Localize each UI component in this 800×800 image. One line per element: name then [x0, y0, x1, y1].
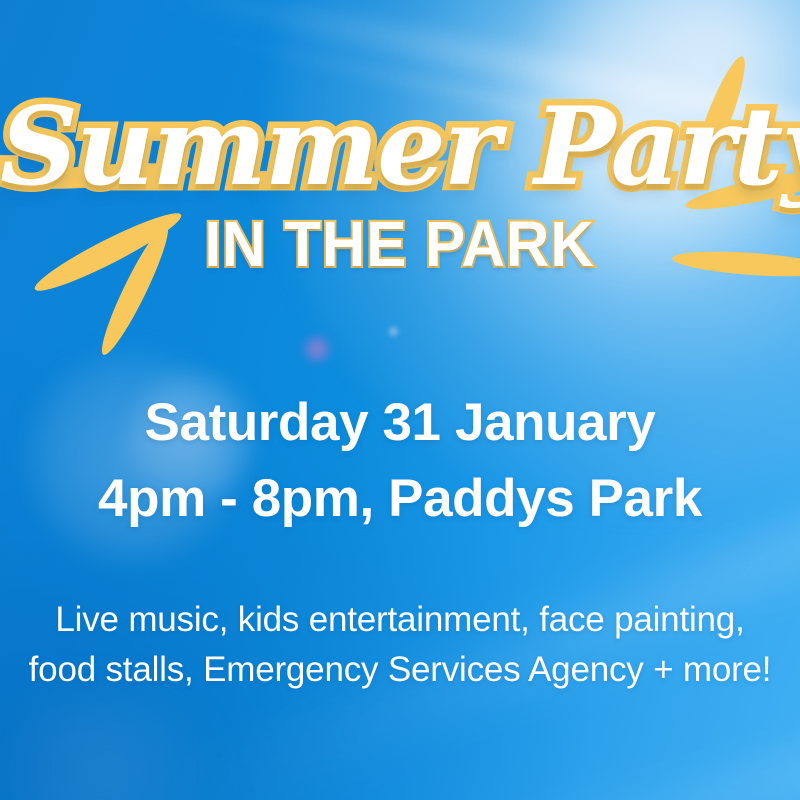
event-description-block: Live music, kids entertainment, face pai…	[0, 595, 800, 695]
event-description-line-2: food stalls, Emergency Services Agency +…	[0, 645, 800, 695]
subtitle-text: IN THE PARK	[205, 212, 595, 276]
event-details-block: Saturday 31 January 4pm - 8pm, Paddys Pa…	[0, 385, 800, 537]
subtitle-container: IN THE PARK	[0, 212, 800, 276]
headline-container: Summer Party	[0, 92, 800, 202]
event-description-line-1: Live music, kids entertainment, face pai…	[0, 595, 800, 645]
event-time-venue-line: 4pm - 8pm, Paddys Park	[0, 461, 800, 537]
event-poster: Summer Party IN THE PARK Saturday 31 Jan…	[0, 0, 800, 800]
headline-script-text: Summer Party	[0, 92, 800, 202]
event-date-line: Saturday 31 January	[0, 385, 800, 461]
